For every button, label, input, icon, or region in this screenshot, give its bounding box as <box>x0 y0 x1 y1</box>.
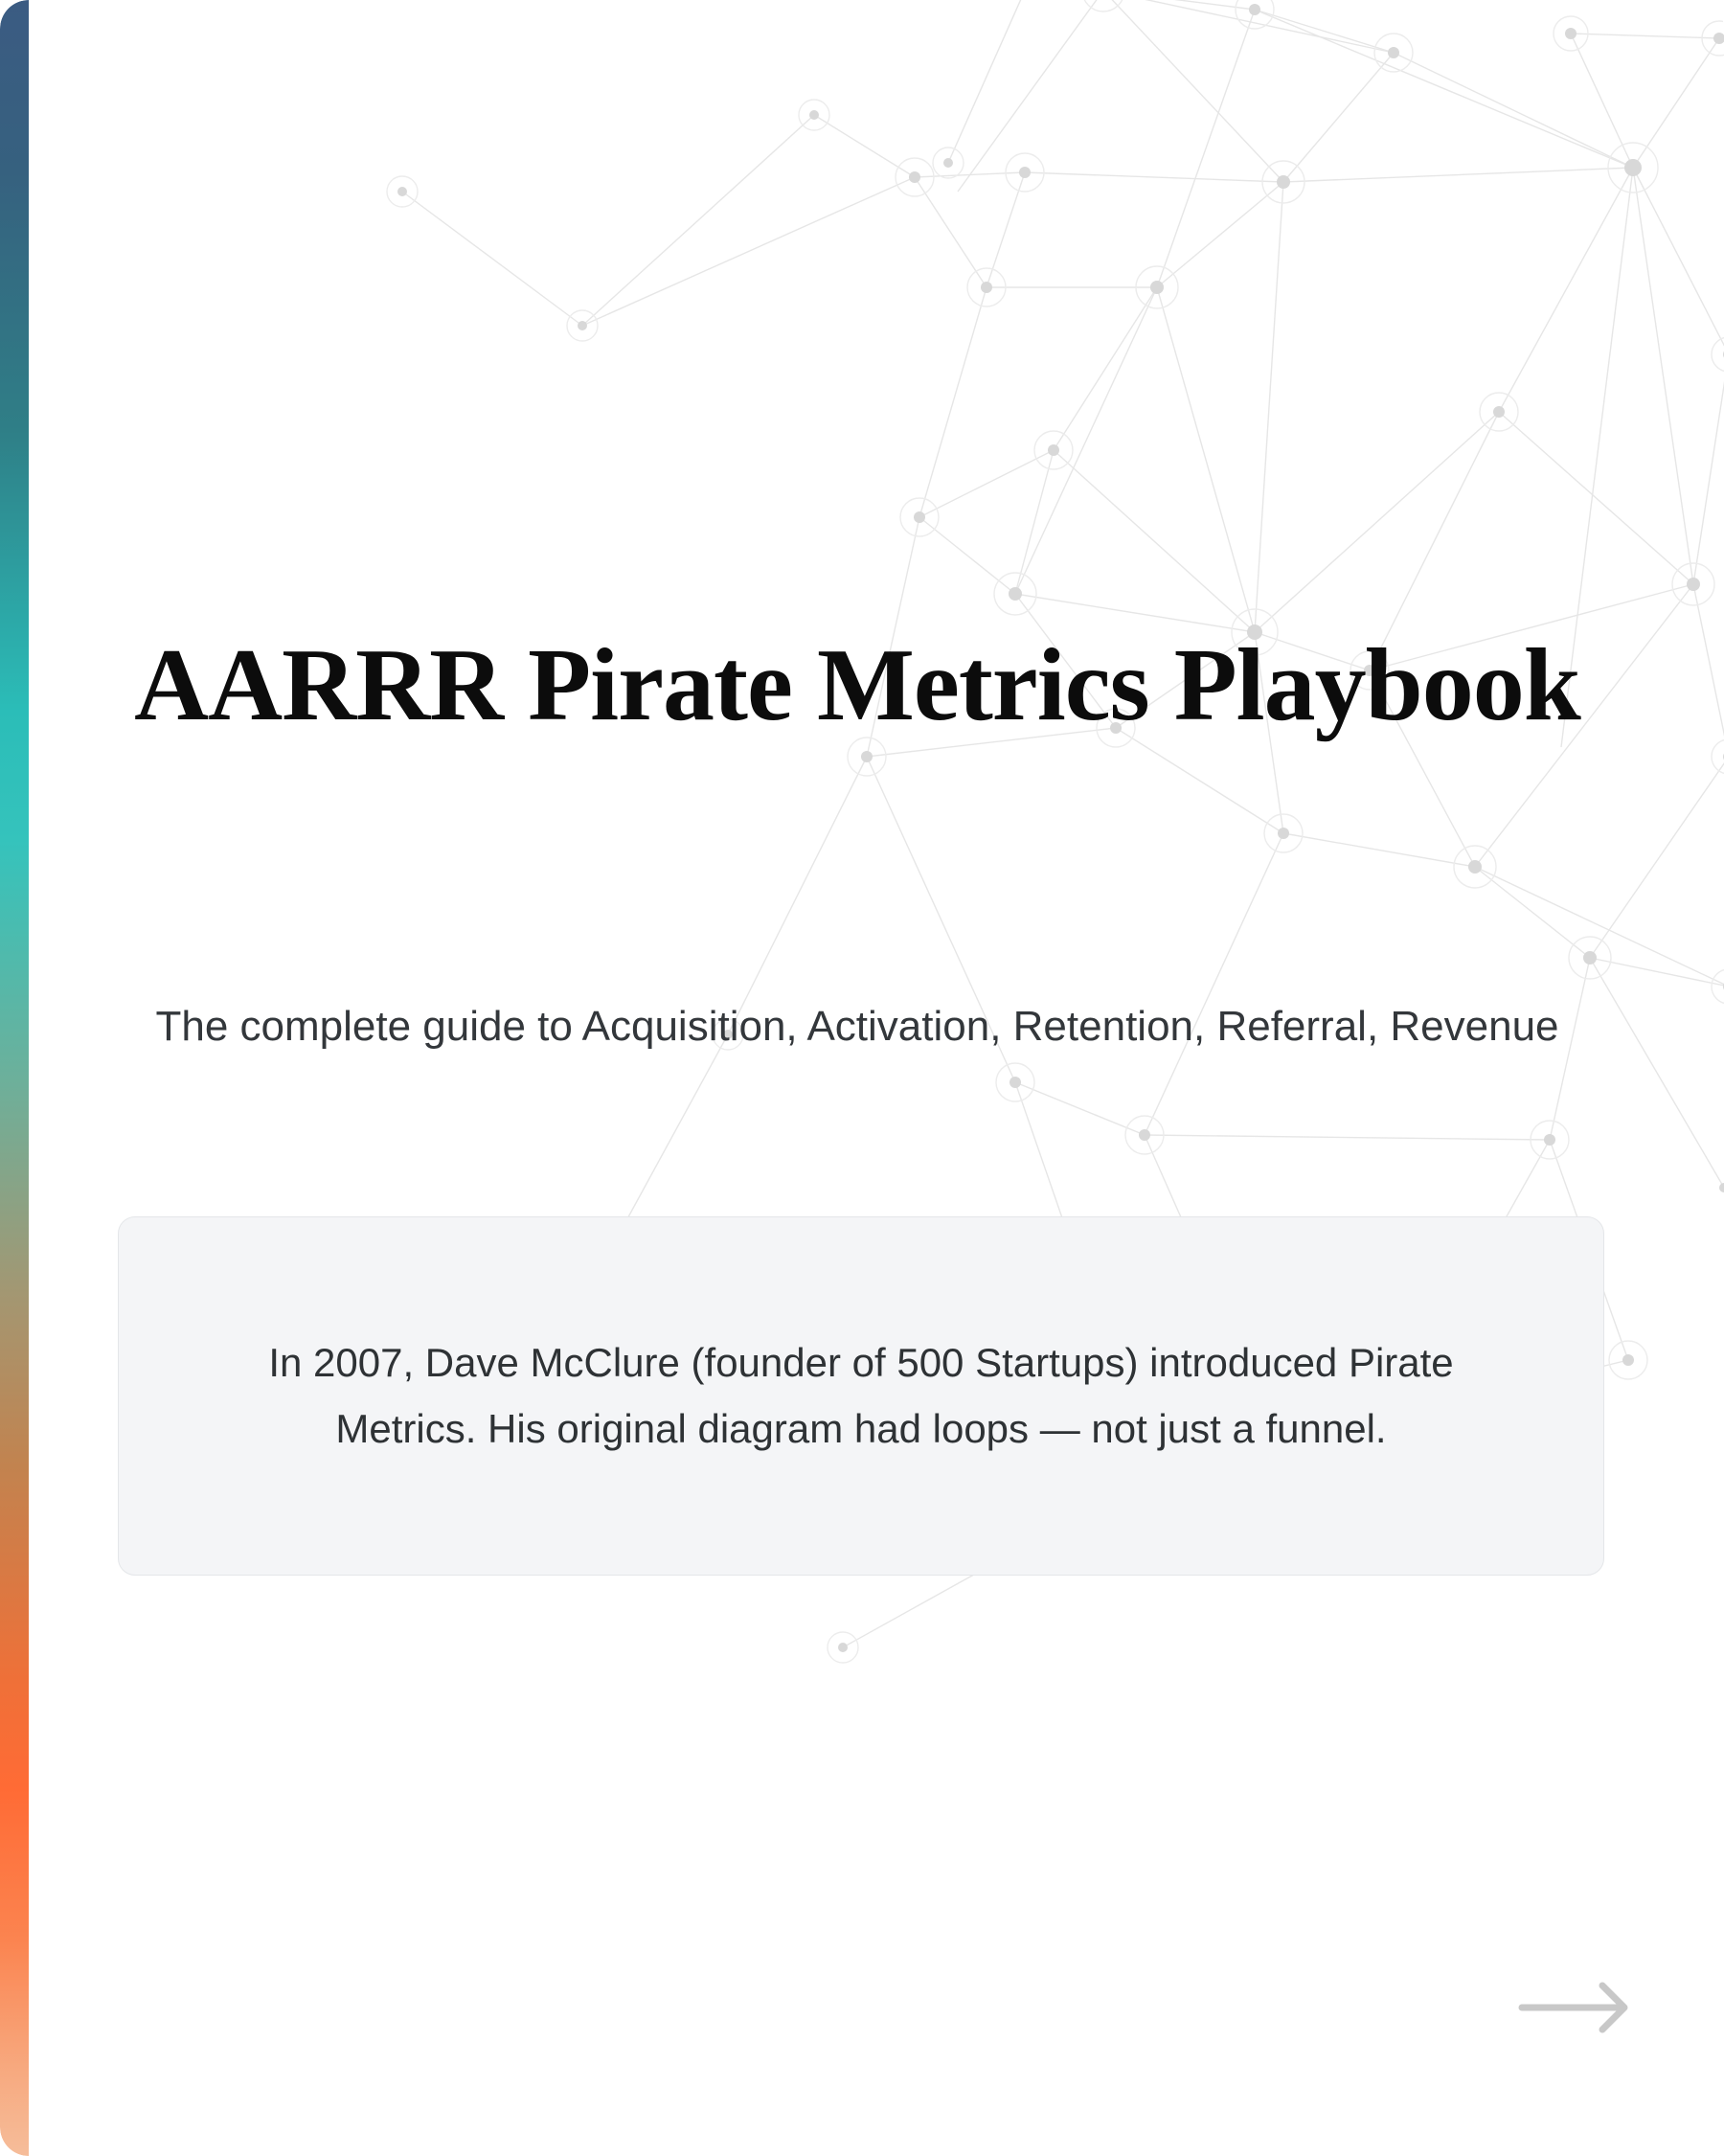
slide-content: AARRR Pirate Metrics Playbook The comple… <box>29 0 1724 2156</box>
arrow-right-icon[interactable] <box>1489 1973 1652 2042</box>
page-title: AARRR Pirate Metrics Playbook <box>115 623 1599 749</box>
callout-card: In 2007, Dave McClure (founder of 500 St… <box>118 1216 1604 1576</box>
gradient-accent-bar <box>0 0 29 2156</box>
callout-text: In 2007, Dave McClure (founder of 500 St… <box>238 1330 1484 1461</box>
slide-root: AARRR Pirate Metrics Playbook The comple… <box>0 0 1724 2156</box>
page-subtitle: The complete guide to Acquisition, Activ… <box>115 998 1599 1056</box>
